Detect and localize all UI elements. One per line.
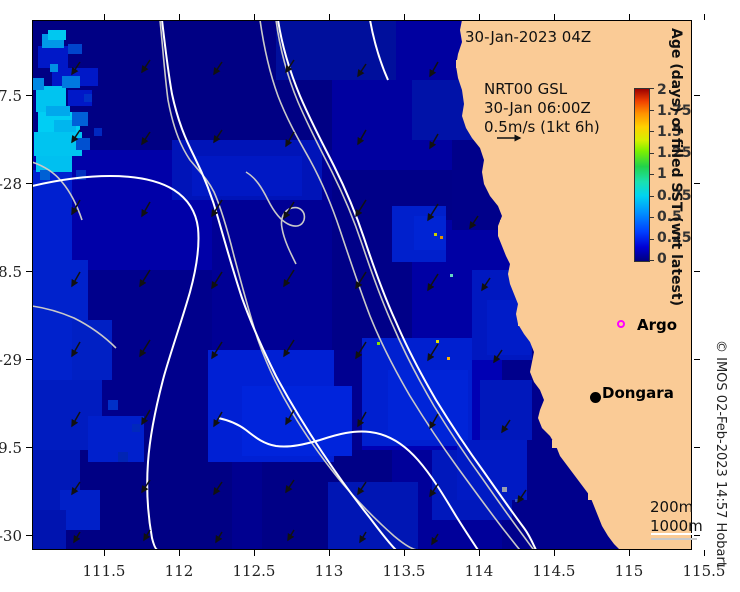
velocity-scale-arrow-icon (496, 133, 526, 143)
copyright-text: © IMOS 02-Feb-2023 14:57 Hobart (713, 340, 728, 567)
contour-legend-200m: 200m (650, 498, 703, 517)
y-tick-right-4 (694, 447, 700, 448)
y-label-3: -29 (0, 351, 22, 369)
x-tick-top-6 (554, 14, 555, 20)
y-label-4: -29.5 (0, 439, 22, 457)
argo-marker-icon[interactable] (617, 320, 625, 328)
sst-age-map-figure: 30-Jan-2023 04Z NRT00 GSL 30-Jan 06:00Z … (0, 0, 740, 592)
contour-legend-1000m-sample (651, 538, 697, 540)
x-label-3: 113 (289, 562, 369, 580)
y-tick-right-3 (694, 359, 700, 360)
colorbar-tick-2: 2 (657, 82, 667, 98)
source-line-2: 30-Jan 06:00Z (484, 99, 600, 118)
x-tick-top-8 (704, 14, 705, 20)
x-tick-1 (179, 550, 180, 556)
colorbar-tick-1: 1 (657, 166, 667, 182)
x-label-7: 115 (589, 562, 669, 580)
colorbar-tick-0: 0 (657, 251, 667, 267)
dongara-marker-icon[interactable] (590, 392, 601, 403)
x-label-1: 112 (139, 562, 219, 580)
timestamp-label: 30-Jan-2023 04Z (465, 28, 591, 46)
y-label-5: -30 (0, 527, 22, 545)
dongara-label: Dongara (602, 384, 674, 402)
x-tick-0 (104, 550, 105, 556)
x-tick-6 (554, 550, 555, 556)
x-tick-3 (329, 550, 330, 556)
x-label-8: 115.5 (664, 562, 740, 580)
y-tick-right-0 (694, 95, 700, 96)
source-info-block: NRT00 GSL 30-Jan 06:00Z 0.5m/s (1kt 6h) (484, 80, 600, 137)
colorbar[interactable]: 2 1.75 1.5 1.25 1 0.75 0.5 0.25 0 (634, 88, 650, 262)
y-tick-3 (26, 359, 32, 360)
x-label-6: 114.5 (514, 562, 594, 580)
y-tick-4 (26, 447, 32, 448)
y-tick-right-1 (694, 183, 700, 184)
x-tick-top-7 (629, 14, 630, 20)
contour-legend-200m-sample (651, 533, 697, 535)
y-tick-0 (26, 95, 32, 96)
x-label-2: 112.5 (214, 562, 294, 580)
x-tick-top-3 (329, 14, 330, 20)
x-tick-top-1 (179, 14, 180, 20)
y-label-0: -27.5 (0, 87, 22, 105)
y-tick-right-2 (694, 271, 700, 272)
argo-label: Argo (637, 316, 677, 334)
x-label-0: 111.5 (64, 562, 144, 580)
x-tick-top-0 (104, 14, 105, 20)
x-tick-5 (479, 550, 480, 556)
colorbar-title: Age (days) of filled SST (wrt latest) (668, 28, 684, 306)
x-tick-7 (629, 550, 630, 556)
sst-age-raster (32, 20, 532, 550)
x-tick-top-4 (404, 14, 405, 20)
y-tick-1 (26, 183, 32, 184)
y-label-2: -28.5 (0, 263, 22, 281)
x-tick-4 (404, 550, 405, 556)
y-tick-right-5 (694, 535, 700, 536)
x-tick-top-2 (254, 14, 255, 20)
x-tick-8 (704, 550, 705, 556)
x-tick-top-5 (479, 14, 480, 20)
x-tick-2 (254, 550, 255, 556)
y-tick-2 (26, 271, 32, 272)
contour-legend: 200m 1000m (650, 498, 703, 536)
source-line-1: NRT00 GSL (484, 80, 600, 99)
colorbar-gradient (634, 88, 650, 262)
y-tick-5 (26, 535, 32, 536)
y-label-1: -28 (0, 175, 22, 193)
x-label-4: 113.5 (364, 562, 444, 580)
x-label-5: 114 (439, 562, 519, 580)
